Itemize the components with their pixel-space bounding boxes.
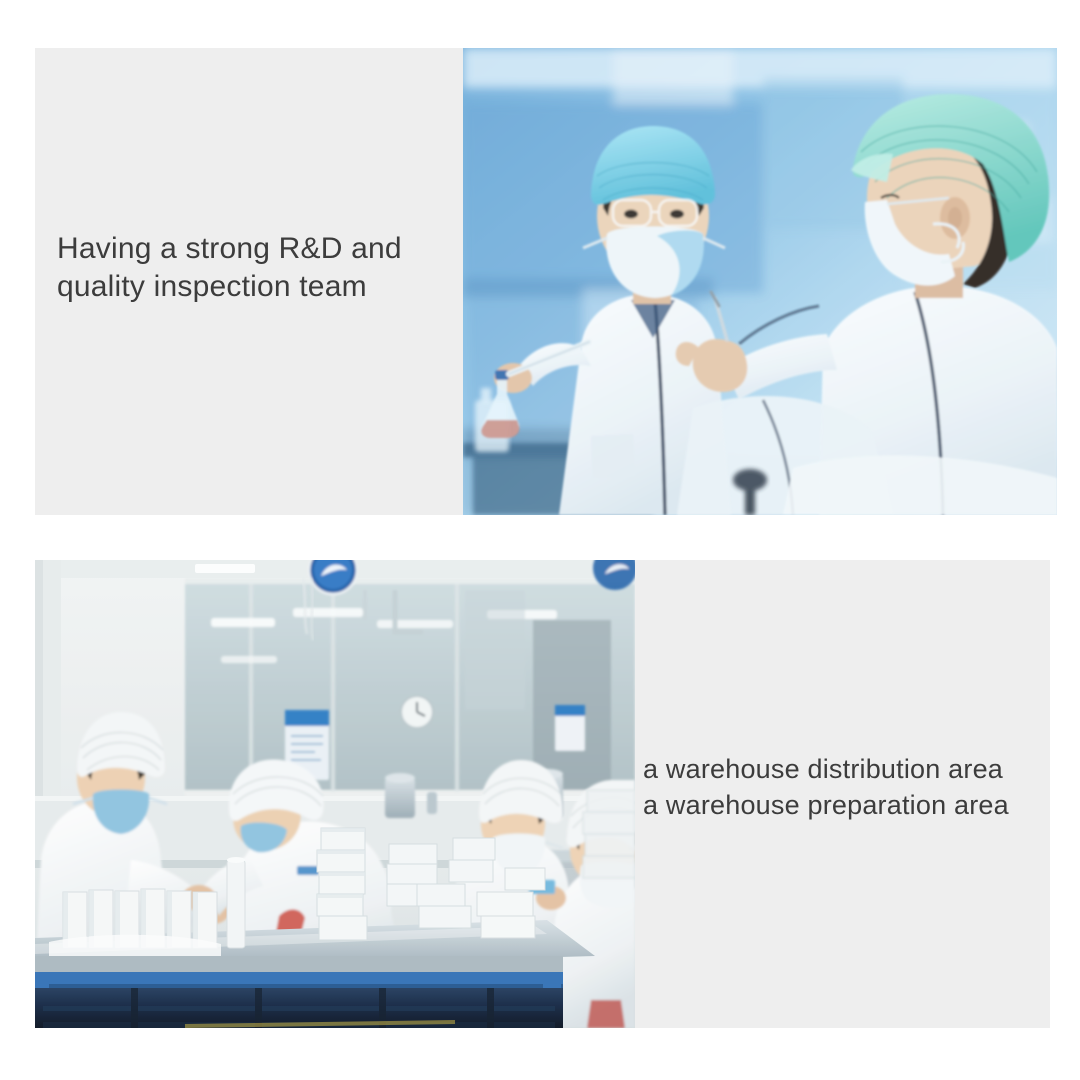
top-caption-text: Having a strong R&D and quality inspecti… [57, 230, 457, 307]
warehouse-packing-photo [35, 560, 635, 1028]
warehouse-photo-illustration [35, 560, 635, 1028]
lab-technicians-photo [463, 48, 1057, 515]
page-canvas: Having a strong R&D and quality inspecti… [0, 0, 1080, 1080]
bottom-panel: a warehouse distribution area a warehous… [35, 560, 1050, 1028]
lab-photo-illustration [463, 48, 1057, 515]
top-panel: Having a strong R&D and quality inspecti… [35, 48, 1057, 515]
bottom-caption-text: a warehouse distribution area a warehous… [643, 752, 1063, 824]
